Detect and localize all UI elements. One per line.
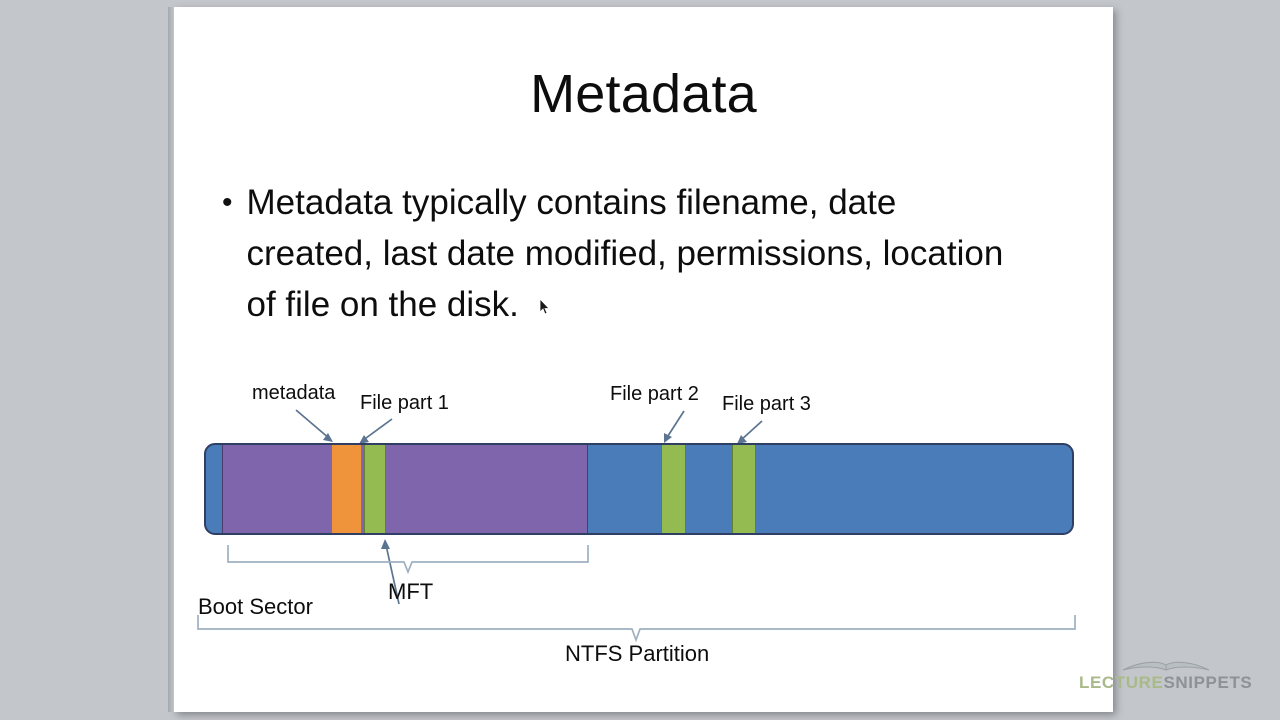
brace-label-ntfs-partition: NTFS Partition [565, 641, 709, 667]
watermark-text: LECTURESNIPPETS [1079, 673, 1252, 693]
brace-ntfs-partition [198, 615, 1075, 640]
diagram-braces [174, 367, 1113, 687]
brace-mft [228, 545, 588, 572]
bullet-list: • Metadata typically contains filename, … [222, 177, 1022, 330]
screenshot-canvas: Metadata • Metadata typically contains f… [0, 0, 1280, 720]
watermark-word-lecture: LECTURE [1079, 673, 1163, 692]
open-book-icon [1119, 653, 1215, 675]
ntfs-partition-diagram: metadata File part 1 File part 2 File pa… [174, 367, 1113, 687]
presentation-slide: Metadata • Metadata typically contains f… [174, 7, 1113, 712]
bullet-text: Metadata typically contains filename, da… [247, 177, 1022, 330]
page-title: Metadata [174, 64, 1113, 124]
pointer-label-boot-sector: Boot Sector [198, 594, 313, 620]
bullet-marker: • [222, 177, 233, 229]
brace-label-mft: MFT [388, 579, 433, 605]
watermark-word-snippets: SNIPPETS [1163, 673, 1252, 692]
watermark-logo: LECTURESNIPPETS [1079, 653, 1259, 699]
